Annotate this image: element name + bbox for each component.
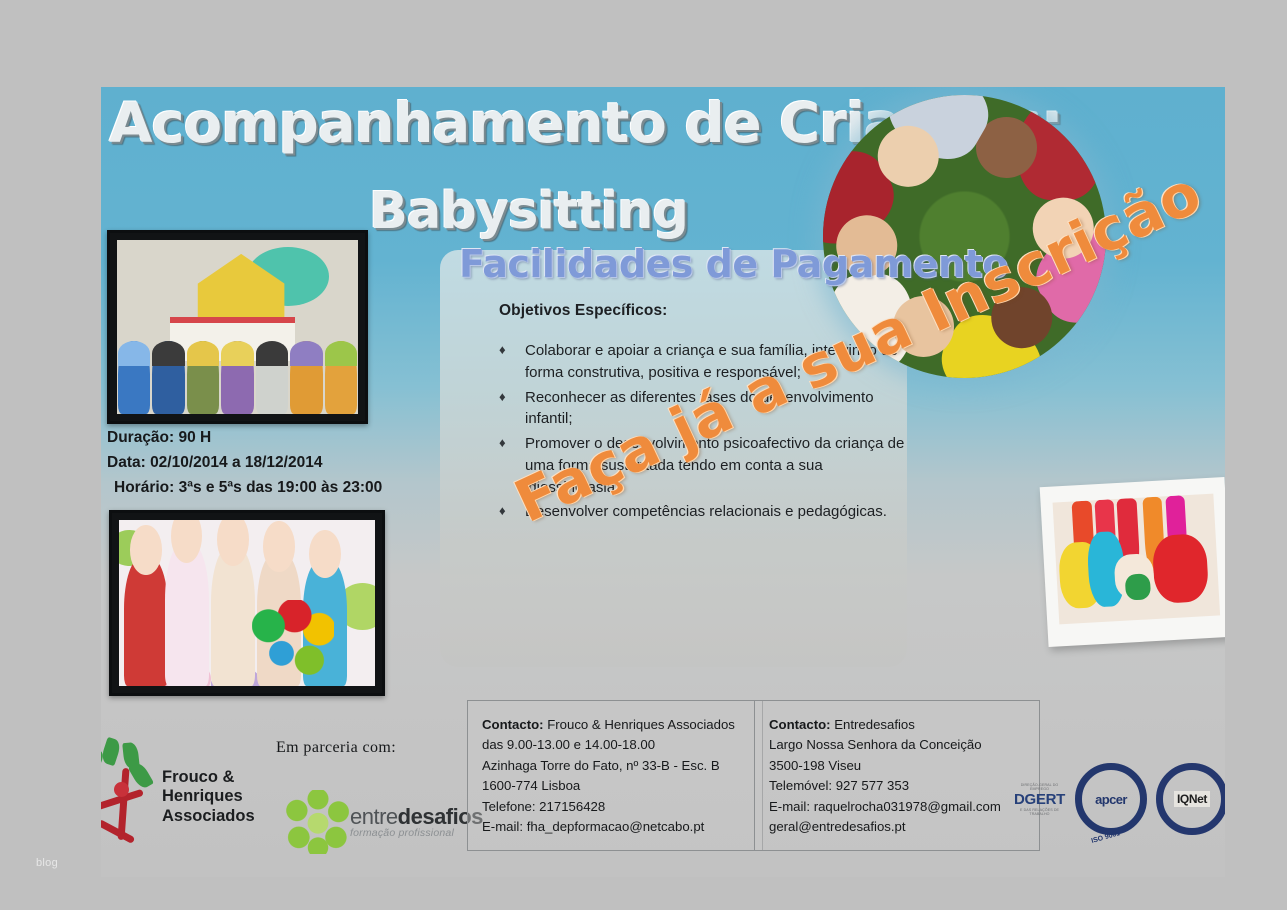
logo-ed-light: entre xyxy=(350,804,398,829)
contact-email-secondary[interactable]: geral@entredesafios.pt xyxy=(769,817,1027,837)
logo-frouco-henriques: Frouco & Henriques Associados xyxy=(101,737,296,857)
contact-street: Largo Nossa Senhora da Conceição xyxy=(769,735,1027,755)
logo-entredesafios-text: entredesafios formação profissional xyxy=(350,805,483,839)
dgert-logo: DIREÇÃO-GERAL DO EMPREGO DGERT E DAS REL… xyxy=(1013,768,1066,830)
contact-postal: 3500-198 Viseu xyxy=(769,756,1027,776)
photo-painted-faces-image xyxy=(119,520,375,686)
contact-mobile: Telemóvel: 927 577 353 xyxy=(769,776,1027,796)
contact-label: Contacto: xyxy=(482,717,544,732)
logo-frouco-henriques-text: Frouco & Henriques Associados xyxy=(162,768,296,826)
dgert-arc-text: DIREÇÃO-GERAL DO EMPREGO xyxy=(1013,783,1066,791)
contact-org: Frouco & Henriques Associados xyxy=(547,717,735,732)
page-title-line2: Babysitting xyxy=(369,182,688,241)
logo-ed-tagline: formação profissional xyxy=(350,828,483,839)
certification-badges: DIREÇÃO-GERAL DO EMPREGO DGERT E DAS REL… xyxy=(1013,759,1225,839)
fact-dates: Data: 02/10/2014 a 18/12/2014 xyxy=(107,450,467,475)
contact-hours: das 9.00-13.00 e 14.00-18.00 xyxy=(482,735,750,755)
poster-canvas: Acompanhamento de Crianças: Babysitting … xyxy=(101,87,1225,877)
contact-phone: Telefone: 217156428 xyxy=(482,797,750,817)
apcer-logo: apcer ISO 9001 xyxy=(1075,763,1147,835)
tree-person-icon xyxy=(101,742,162,852)
contact-org: Entredesafios xyxy=(834,717,915,732)
contact-postal: 1600-774 Lisboa xyxy=(482,776,750,796)
flower-icon xyxy=(286,790,350,854)
watermark-blog: blog xyxy=(36,857,58,869)
fact-schedule: Horário: 3ªs e 5ªs das 19:00 às 23:00 xyxy=(107,475,467,500)
photo-painted-hands xyxy=(1040,477,1225,647)
apcer-name: apcer xyxy=(1095,792,1127,807)
contact-label: Contacto: xyxy=(769,717,831,732)
photo-painted-faces xyxy=(109,510,385,696)
diamond-bullet-icon: ♦ xyxy=(499,340,525,360)
contact-header: Contacto: Frouco & Henriques Associados xyxy=(482,715,750,735)
contact-box-entredesafios: Contacto: Entredesafios Largo Nossa Senh… xyxy=(754,700,1040,851)
course-facts: Duração: 90 H Data: 02/10/2014 a 18/12/2… xyxy=(107,425,467,500)
fact-duration: Duração: 90 H xyxy=(107,425,467,450)
contact-street: Azinhaga Torre do Fato, nº 33-B - Esc. B xyxy=(482,756,750,776)
contact-box-frouco-henriques: Contacto: Frouco & Henriques Associados … xyxy=(467,700,763,851)
contact-email[interactable]: E-mail: raquelrocha031978@gmail.com xyxy=(769,797,1027,817)
dgert-name: DGERT xyxy=(1014,791,1065,808)
logo-entredesafios: entredesafios formação profissional xyxy=(286,777,486,867)
photo-dolls xyxy=(107,230,368,424)
diamond-bullet-icon: ♦ xyxy=(499,433,525,453)
poster-screenshot: Acompanhamento de Crianças: Babysitting … xyxy=(0,0,1287,910)
iqnet-ring-icon: IQNet xyxy=(1156,763,1225,835)
dgert-sub-text: E DAS RELAÇÕES DE TRABALHO xyxy=(1013,808,1066,816)
apcer-iso: ISO 9001 xyxy=(1091,830,1121,845)
contact-email[interactable]: E-mail: fha_depformacao@netcabo.pt xyxy=(482,817,750,837)
contact-header: Contacto: Entredesafios xyxy=(769,715,1027,735)
photo-dolls-image xyxy=(117,240,358,414)
iqnet-logo: IQNet xyxy=(1156,763,1225,835)
iqnet-name: IQNet xyxy=(1174,791,1210,807)
photo-painted-hands-image xyxy=(1053,494,1221,625)
apcer-ring-icon: apcer ISO 9001 xyxy=(1075,763,1147,835)
logo-fha-line2: Associados xyxy=(162,807,296,826)
logo-fha-line1: Frouco & Henriques xyxy=(162,768,296,807)
diamond-bullet-icon: ♦ xyxy=(499,387,525,407)
